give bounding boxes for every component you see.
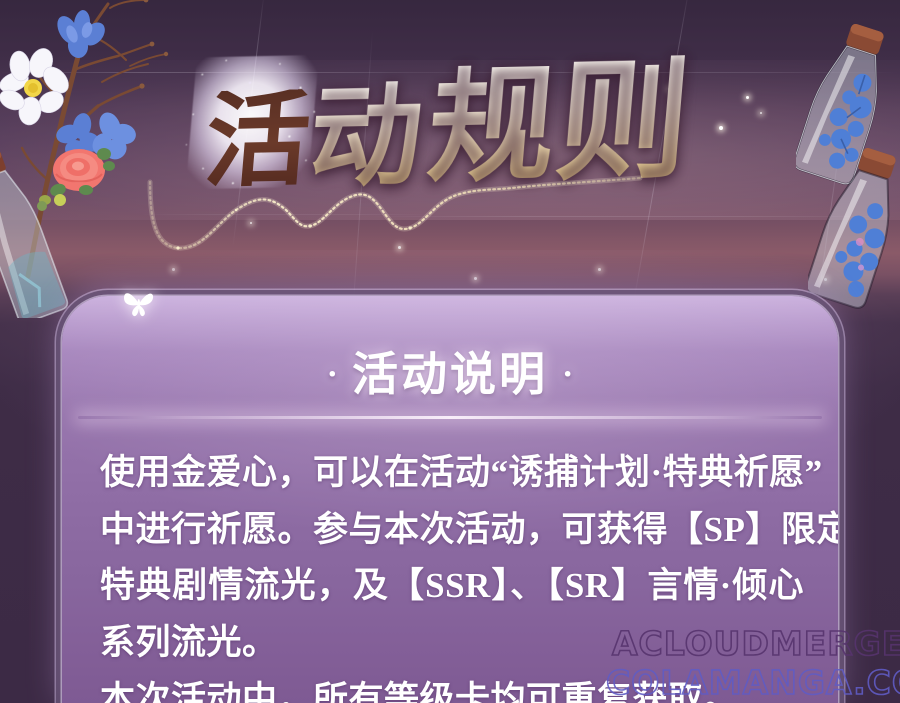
panel-section-title: ·活动说明· xyxy=(62,296,838,404)
body-line: 本次活动中，所有等级卡均可重复获取。 xyxy=(100,672,804,703)
body-line: 特典剧情流光，及【SSR】、【SR】言情·倾心 xyxy=(100,558,804,615)
title-char-plate: 活 xyxy=(201,77,319,197)
panel-title-divider xyxy=(78,416,823,419)
panel-body-text: 使用金爱心，可以在活动“诱捕计划·特典祈愿” 中进行祈愿。参与本次活动，可获得【… xyxy=(62,445,838,703)
page-root: 活 动 规 则 ·活动说明· 使用金爱心，可 xyxy=(0,0,900,703)
body-line: 使用金爱心，可以在活动“诱捕计划·特典祈愿” xyxy=(100,445,804,502)
title-char-1: 活 xyxy=(201,89,318,195)
page-title: 活 动 规 则 xyxy=(0,46,900,206)
panel-title-dot-right: · xyxy=(548,356,587,393)
butterfly-icon xyxy=(122,288,156,318)
body-line: 中进行祈愿。参与本次活动，可获得【SP】限定 xyxy=(100,502,804,559)
activity-description-panel: ·活动说明· 使用金爱心，可以在活动“诱捕计划·特典祈愿” 中进行祈愿。参与本次… xyxy=(62,296,838,703)
panel-title-dot-left: · xyxy=(313,356,352,393)
title-char-2: 动 xyxy=(305,80,431,194)
page-title-text: 活 动 规 则 xyxy=(201,55,699,197)
title-char-4: 则 xyxy=(552,55,699,190)
body-line: 系列流光。 xyxy=(100,615,804,672)
panel-title-text: 活动说明 xyxy=(352,349,548,400)
title-char-3: 规 xyxy=(423,64,564,193)
